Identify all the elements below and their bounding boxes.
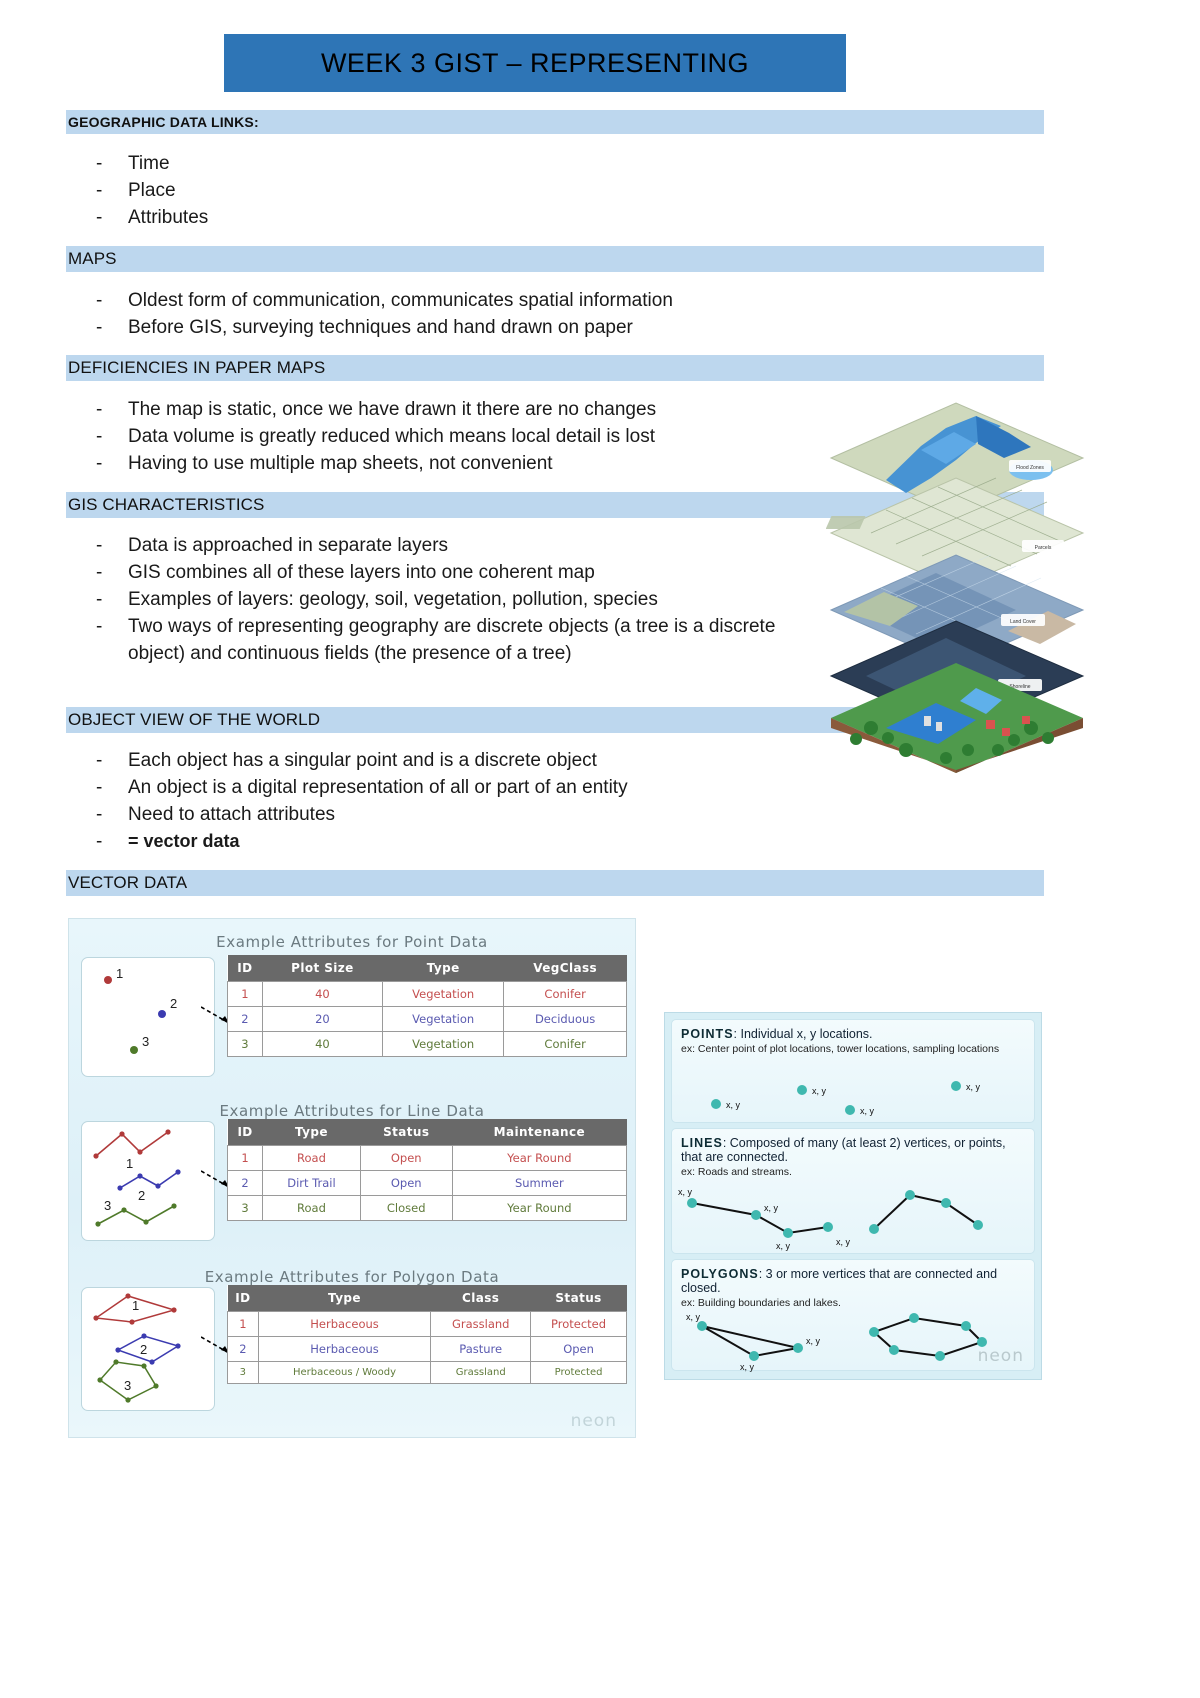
column-header: ID (228, 1285, 259, 1312)
cell-id: 2 (228, 1337, 259, 1362)
section-heading-text: VECTOR DATA (68, 873, 187, 893)
svg-text:2: 2 (170, 996, 177, 1011)
list-item: - Need to attach attributes (92, 801, 832, 828)
cell-id: 3 (228, 1032, 263, 1057)
cell-status: Protected (531, 1312, 627, 1337)
attribute-table-line-data: ID Type Status Maintenance 1 Road Open Y… (227, 1119, 627, 1221)
cell-status: Protected (531, 1362, 627, 1384)
bullet-dash: - (92, 613, 128, 640)
list-item: - Attributes (92, 204, 792, 231)
svg-text:Parcels: Parcels (1035, 545, 1052, 551)
mini-map-lines: 1 2 3 (81, 1121, 215, 1241)
table-row: 1 Road Open Year Round (228, 1146, 627, 1171)
list-item: - Data is approached in separate layers (92, 532, 812, 559)
bullet-dash: - (92, 204, 128, 231)
list-item-label: Need to attach attributes (128, 801, 832, 828)
column-header: Class (431, 1285, 531, 1312)
section-heading-text: GEOGRAPHIC DATA LINKS: (68, 114, 259, 130)
cell-class: Pasture (431, 1337, 531, 1362)
table-row: 3 40 Vegetation Conifer (228, 1032, 627, 1057)
cell-plot-size: 40 (262, 1032, 382, 1057)
bullet-dash: - (92, 423, 128, 450)
column-header: Type (258, 1285, 431, 1312)
svg-text:x, y: x, y (686, 1312, 701, 1322)
polygons-term: POLYGONS (681, 1267, 759, 1281)
polygons-illustration: x, y x, y x, y (678, 1312, 1028, 1372)
svg-text:x, y: x, y (806, 1336, 821, 1346)
column-header: Maintenance (452, 1119, 626, 1146)
cell-type: Vegetation (383, 1007, 504, 1032)
svg-text:Flood Zones: Flood Zones (1016, 465, 1044, 471)
table-row: 1 40 Vegetation Conifer (228, 982, 627, 1007)
cell-type: Herbaceous (258, 1312, 431, 1337)
neon-vector-attribute-tables-figure: Example Attributes for Point Data 1 2 3 … (68, 918, 636, 1438)
svg-text:2: 2 (138, 1188, 145, 1203)
list-item-label: An object is a digital representation of… (128, 774, 832, 801)
cell-status: Open (360, 1171, 452, 1196)
bullet-dash: - (92, 314, 128, 341)
cell-type: Road (263, 1146, 361, 1171)
column-header: Type (383, 955, 504, 982)
list-item: - Place (92, 177, 792, 204)
svg-text:2: 2 (140, 1342, 147, 1357)
bullet-dash: - (92, 828, 128, 855)
section-heading-text: OBJECT VIEW OF THE WORLD (68, 710, 320, 730)
list-item-label: Each object has a singular point and is … (128, 747, 832, 774)
section-heading-text: DEFICIENCIES IN PAPER MAPS (68, 358, 325, 378)
bullet-dash: - (92, 747, 128, 774)
bullet-dash: - (92, 287, 128, 314)
list-item-label: GIS combines all of these layers into on… (128, 559, 812, 586)
cell-class: Grassland (431, 1312, 531, 1337)
bullet-dash: - (92, 774, 128, 801)
panel-polygons: POLYGONS: 3 or more vertices that are co… (671, 1259, 1035, 1371)
table-row: 2 Dirt Trail Open Summer (228, 1171, 627, 1196)
polygons-definition-line: POLYGONS: 3 or more vertices that are co… (681, 1267, 1025, 1295)
points-illustration: x, y x, y x, y x, y (680, 1072, 1026, 1120)
list-item-label: The map is static, once we have drawn it… (128, 396, 832, 423)
cell-class: Grassland (431, 1362, 531, 1384)
cell-id: 3 (228, 1196, 263, 1221)
list-item-label: Examples of layers: geology, soil, veget… (128, 586, 812, 613)
table-header-row: ID Type Status Maintenance (228, 1119, 627, 1146)
document-title-banner: WEEK 3 GIST – REPRESENTING (224, 34, 846, 92)
list-item-label: Oldest form of communication, communicat… (128, 287, 852, 314)
lines-term: LINES (681, 1136, 723, 1150)
lines-illustration: x, y x, y x, y x, y (678, 1181, 1028, 1251)
svg-text:x, y: x, y (836, 1237, 851, 1247)
attribute-table-polygon-data: ID Type Class Status 1 Herbaceous Grassl… (227, 1285, 627, 1384)
svg-text:x, y: x, y (860, 1106, 875, 1116)
section-header-maps: MAPS (66, 246, 1044, 272)
bullet-dash: - (92, 450, 128, 477)
cell-vegclass: Conifer (504, 1032, 627, 1057)
bullet-dash: - (92, 177, 128, 204)
gis-layer-cake-graphic: Flood Zones Parcels (826, 398, 1088, 773)
svg-text:x, y: x, y (966, 1082, 981, 1092)
list-item: - An object is a digital representation … (92, 774, 832, 801)
mini-map-polygons: 1 2 3 (81, 1287, 215, 1411)
table-row: 2 20 Vegetation Deciduous (228, 1007, 627, 1032)
list-item: - The map is static, once we have drawn … (92, 396, 832, 423)
lines-example: ex: Roads and streams. (681, 1166, 1025, 1179)
bullet-dash: - (92, 559, 128, 586)
points-example: ex: Center point of plot locations, towe… (681, 1043, 1025, 1056)
cell-type: Road (263, 1196, 361, 1221)
column-header: Type (263, 1119, 361, 1146)
neon-watermark: neon (978, 1346, 1024, 1366)
list-item-label: Two ways of representing geography are d… (128, 613, 812, 667)
column-header: Status (360, 1119, 452, 1146)
bullet-dash: - (92, 150, 128, 177)
list-item-label: Having to use multiple map sheets, not c… (128, 450, 832, 477)
list-item-label: Data volume is greatly reduced which mea… (128, 423, 832, 450)
svg-text:x, y: x, y (764, 1203, 779, 1213)
mini-map-points: 1 2 3 (81, 957, 215, 1077)
column-header: Plot Size (262, 955, 382, 982)
list-item-label: Data is approached in separate layers (128, 532, 812, 559)
svg-text:x, y: x, y (678, 1187, 693, 1197)
svg-text:1: 1 (132, 1298, 139, 1313)
list-item-label: Before GIS, surveying techniques and han… (128, 314, 852, 341)
cell-id: 2 (228, 1007, 263, 1032)
svg-text:3: 3 (104, 1198, 111, 1213)
bullet-list-geographic-data-links: - Time - Place - Attributes (92, 150, 792, 231)
cell-maintenance: Year Round (452, 1196, 626, 1221)
svg-text:1: 1 (126, 1156, 133, 1171)
section-header-vector-data: VECTOR DATA (66, 870, 1044, 896)
points-definition-line: POINTS: Individual x, y locations. (681, 1027, 1025, 1041)
list-item: - GIS combines all of these layers into … (92, 559, 812, 586)
cell-maintenance: Summer (452, 1171, 626, 1196)
bullet-dash: - (92, 586, 128, 613)
list-item: - Examples of layers: geology, soil, veg… (92, 586, 812, 613)
list-item: - Data volume is greatly reduced which m… (92, 423, 832, 450)
lines-definition: : Composed of many (at least 2) vertices… (681, 1136, 1006, 1164)
list-item-label: Time (128, 150, 792, 177)
cell-status: Open (360, 1146, 452, 1171)
list-item: - Oldest form of communication, communic… (92, 287, 852, 314)
svg-text:x, y: x, y (776, 1241, 791, 1251)
table-row: 1 Herbaceous Grassland Protected (228, 1312, 627, 1337)
table-header-row: ID Type Class Status (228, 1285, 627, 1312)
cell-status: Open (531, 1337, 627, 1362)
cell-plot-size: 40 (262, 982, 382, 1007)
list-item: - Two ways of representing geography are… (92, 613, 812, 667)
list-item: - Time (92, 150, 792, 177)
attribute-table-point-data: ID Plot Size Type VegClass 1 40 Vegetati… (227, 955, 627, 1057)
svg-text:3: 3 (124, 1378, 131, 1393)
column-header: VegClass (504, 955, 627, 982)
svg-text:x, y: x, y (740, 1362, 755, 1372)
svg-text:x, y: x, y (726, 1100, 741, 1110)
points-term: POINTS (681, 1027, 734, 1041)
bullet-dash: - (92, 396, 128, 423)
list-item-label-vector-data: = vector data (128, 828, 832, 855)
section-header-geographic-data-links: GEOGRAPHIC DATA LINKS: (66, 110, 1044, 134)
table-header-row: ID Plot Size Type VegClass (228, 955, 627, 982)
list-item: - = vector data (92, 828, 832, 855)
section-heading-text: MAPS (68, 249, 117, 269)
figure-title-point-data: Example Attributes for Point Data (69, 927, 635, 955)
bullet-list-deficiencies: - The map is static, once we have drawn … (92, 396, 832, 477)
points-definition: : Individual x, y locations. (734, 1027, 873, 1041)
panel-lines: LINES: Composed of many (at least 2) ver… (671, 1128, 1035, 1254)
cell-plot-size: 20 (262, 1007, 382, 1032)
cell-id: 1 (228, 1312, 259, 1337)
cell-type: Vegetation (383, 982, 504, 1007)
cell-type: Herbaceous / Woody (258, 1362, 431, 1384)
column-header: Status (531, 1285, 627, 1312)
cell-id: 1 (228, 982, 263, 1007)
list-item: - Before GIS, surveying techniques and h… (92, 314, 852, 341)
list-item: - Each object has a singular point and i… (92, 747, 832, 774)
cell-type: Herbaceous (258, 1337, 431, 1362)
column-header: ID (228, 955, 263, 982)
cell-vegclass: Deciduous (504, 1007, 627, 1032)
list-item-label: Place (128, 177, 792, 204)
neon-watermark: neon (571, 1411, 617, 1431)
panel-points: POINTS: Individual x, y locations. ex: C… (671, 1019, 1035, 1123)
document-page: WEEK 3 GIST – REPRESENTING GEOGRAPHIC DA… (0, 0, 1200, 1698)
list-item: - Having to use multiple map sheets, not… (92, 450, 832, 477)
cell-id: 2 (228, 1171, 263, 1196)
cell-id: 1 (228, 1146, 263, 1171)
cell-vegclass: Conifer (504, 982, 627, 1007)
svg-text:x, y: x, y (812, 1086, 827, 1096)
bullet-dash: - (92, 801, 128, 828)
svg-text:3: 3 (142, 1034, 149, 1049)
page-title: WEEK 3 GIST – REPRESENTING (321, 48, 749, 79)
bullet-list-maps: - Oldest form of communication, communic… (92, 287, 852, 341)
lines-definition-line: LINES: Composed of many (at least 2) ver… (681, 1136, 1025, 1164)
cell-status: Closed (360, 1196, 452, 1221)
bullet-dash: - (92, 532, 128, 559)
svg-text:1: 1 (116, 966, 123, 981)
svg-text:Land Cover: Land Cover (1010, 619, 1036, 625)
neon-vector-definitions-figure: POINTS: Individual x, y locations. ex: C… (664, 1012, 1042, 1380)
bullet-list-object-view: - Each object has a singular point and i… (92, 747, 832, 855)
cell-type: Vegetation (383, 1032, 504, 1057)
table-row: 2 Herbaceous Pasture Open (228, 1337, 627, 1362)
bullet-list-gis-characteristics: - Data is approached in separate layers … (92, 532, 812, 667)
column-header: ID (228, 1119, 263, 1146)
section-header-deficiencies-in-paper-maps: DEFICIENCIES IN PAPER MAPS (66, 355, 1044, 381)
cell-type: Dirt Trail (263, 1171, 361, 1196)
table-row: 3 Herbaceous / Woody Grassland Protected (228, 1362, 627, 1384)
table-row: 3 Road Closed Year Round (228, 1196, 627, 1221)
polygons-example: ex: Building boundaries and lakes. (681, 1297, 1025, 1310)
cell-id: 3 (228, 1362, 259, 1384)
list-item-label: Attributes (128, 204, 792, 231)
section-heading-text: GIS CHARACTERISTICS (68, 495, 264, 515)
cell-maintenance: Year Round (452, 1146, 626, 1171)
